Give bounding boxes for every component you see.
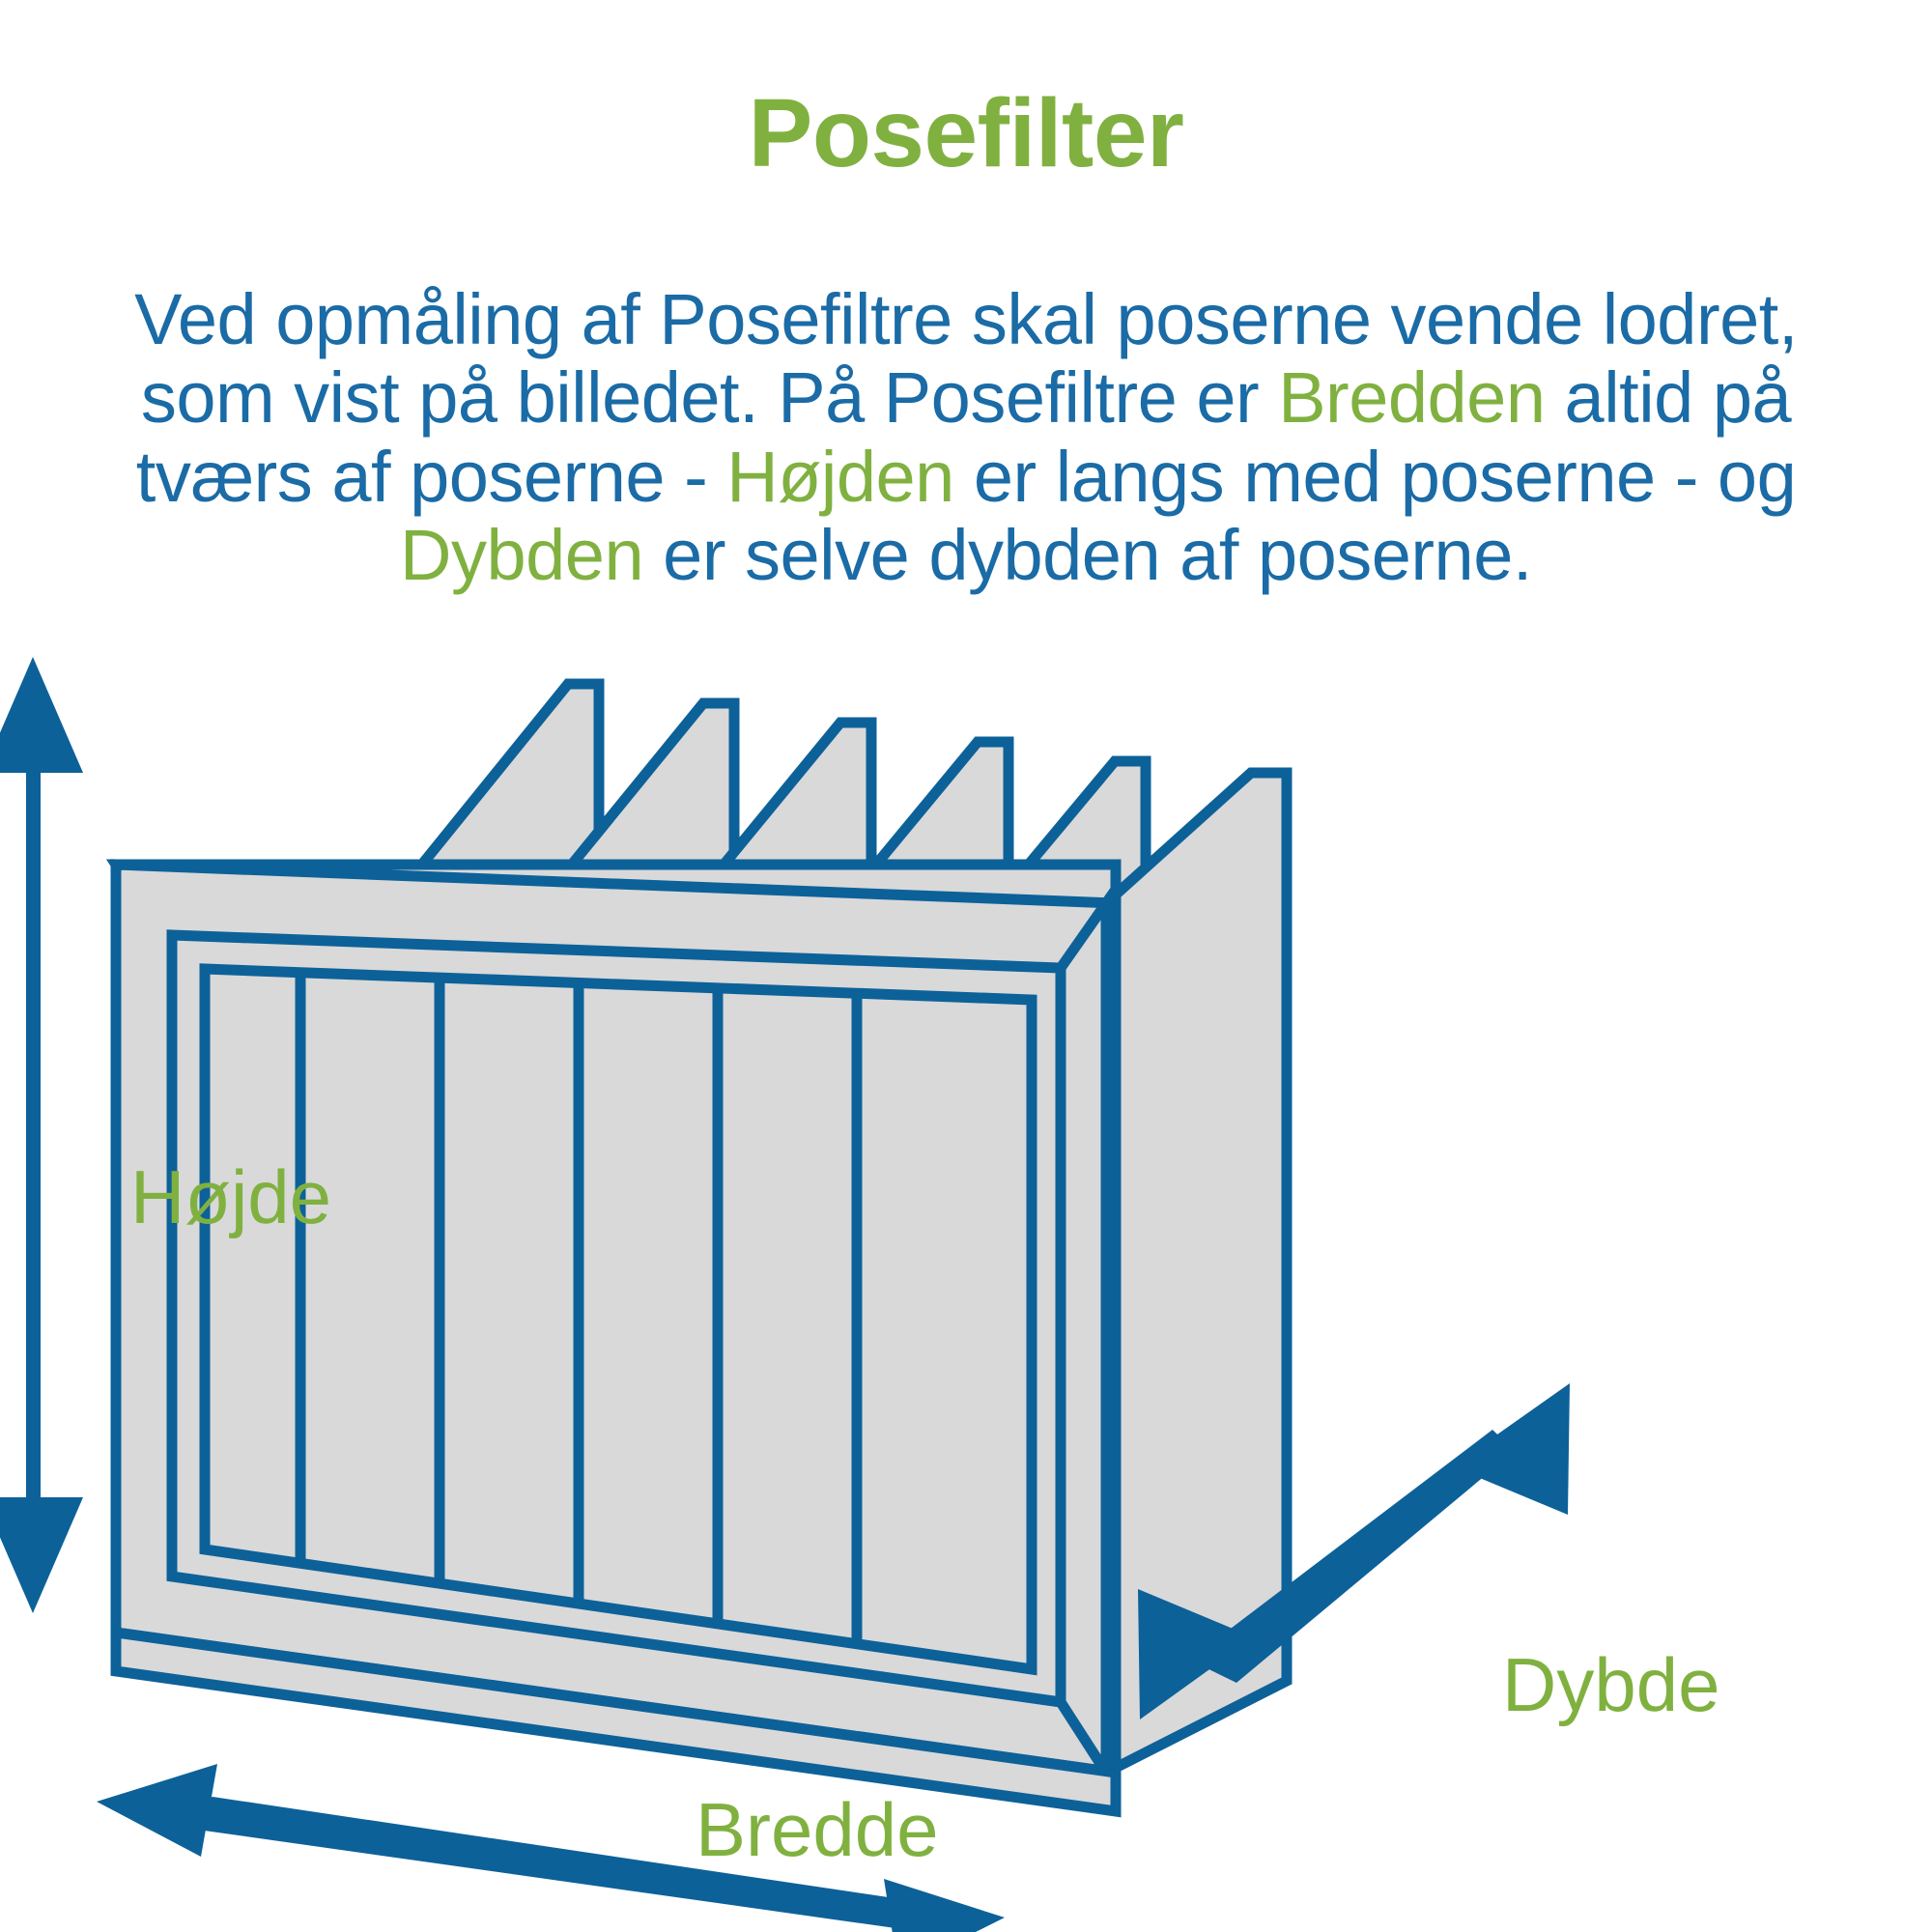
dimension-label-width: Bredde [696, 1792, 939, 1867]
width-arrow-head-right [884, 1879, 1005, 1932]
intro-segment-3: er langs med poserne - og [954, 437, 1796, 517]
filter-right-side-face [1061, 903, 1106, 1773]
height-arrow-shaft [26, 715, 41, 1555]
filter-frame-lip [205, 969, 1032, 1669]
intro-segment-4: er selve dybden af poserne. [643, 515, 1532, 595]
intro-keyword-hojden: Højden [726, 437, 954, 517]
bag-filter-diagram: .ol { fill:#d9d9d9; stroke:#0d6199; stro… [0, 657, 1932, 1932]
filter-frame-lip-shape [205, 969, 1032, 1669]
intro-paragraph: Ved opmåling af Posefiltre skal poserne … [68, 280, 1864, 595]
dimension-label-depth: Dybde [1502, 1647, 1719, 1722]
height-arrow-head-up [0, 657, 83, 773]
height-dimension-arrow [0, 657, 83, 1613]
width-arrow-head-left [97, 1764, 217, 1857]
page-title: Posefilter [0, 85, 1932, 182]
dimension-label-height: Højde [130, 1159, 331, 1235]
intro-keyword-bredden: Bredden [1278, 357, 1545, 438]
filter-right-side-shape [1061, 903, 1106, 1773]
page-root: Posefilter Ved opmåling af Posefiltre sk… [0, 0, 1932, 1932]
height-arrow-head-down [0, 1497, 83, 1613]
intro-keyword-dybden: Dybden [400, 515, 643, 595]
